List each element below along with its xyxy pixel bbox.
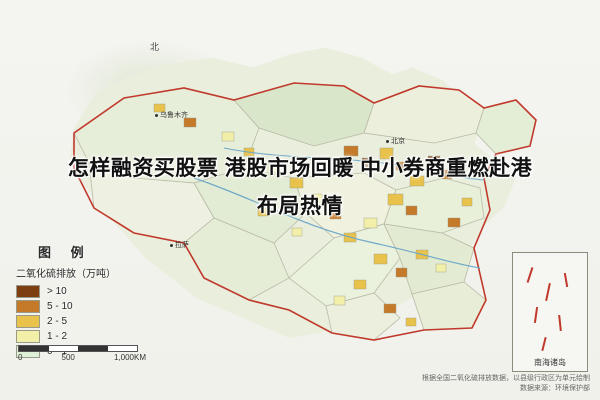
headline-overlay: 怎样融资买股票 港股市场回暖 中小券商重燃赴港 布局热情 <box>0 150 600 226</box>
legend-swatch-2 <box>16 300 40 313</box>
legend-swatch-3 <box>16 315 40 328</box>
legend-item: 5 - 10 <box>16 299 166 313</box>
legend-subtitle: 二氧化硫排放（万吨） <box>16 265 166 280</box>
inset-label: 南海诸岛 <box>513 357 587 368</box>
city-label-text: 乌鲁木齐 <box>160 112 188 119</box>
map-legend: 图 例 二氧化硫排放（万吨） > 10 5 - 10 2 - 5 1 - 2 0… <box>16 242 166 359</box>
city-label-2: 拉萨 <box>170 240 189 250</box>
legend-item: 1 - 2 <box>16 329 166 343</box>
legend-label-3: 2 - 5 <box>47 316 67 327</box>
city-label-text: 拉萨 <box>175 242 189 249</box>
headline-line-2: 布局热情 <box>0 188 600 226</box>
legend-item: > 10 <box>16 284 166 298</box>
scale-tick-labels: 0 500 1,000KM <box>18 353 146 362</box>
headline-line-1: 怎样融资买股票 港股市场回暖 中小券商重燃赴港 <box>0 150 600 188</box>
city-label-text: 北京 <box>391 138 405 145</box>
footnote-line-1: 根据全国二氧化硫排放数据，以县级行政区为单元绘制 <box>380 374 590 384</box>
map-footnote: 根据全国二氧化硫排放数据，以县级行政区为单元绘制 数据来源：环境保护部 <box>380 374 590 394</box>
scale-tick-1: 500 <box>62 353 75 362</box>
scale-tick-0: 0 <box>18 353 22 362</box>
south-sea-inset: 南海诸岛 <box>512 252 588 372</box>
scale-bar: 0 500 1,000KM <box>18 345 158 362</box>
legend-label-2: 5 - 10 <box>47 301 73 312</box>
map-screenshot: 北 乌鲁木齐 拉萨 北京 怎样融资买股票 港股市场回暖 中小券商重燃赴港 布局热… <box>0 0 600 400</box>
scale-tick-2: 1,000KM <box>114 353 146 362</box>
compass-label: 北 <box>150 40 159 53</box>
legend-label-4: 1 - 2 <box>47 331 67 342</box>
city-label-3: 北京 <box>386 136 405 146</box>
legend-swatch-1 <box>16 285 40 298</box>
legend-item: 2 - 5 <box>16 314 166 328</box>
legend-heading: 图 例 <box>38 242 166 261</box>
legend-label-1: > 10 <box>47 286 67 297</box>
scale-bar-graphic <box>18 345 138 352</box>
footnote-line-2: 数据来源：环境保护部 <box>380 384 590 394</box>
legend-swatch-4 <box>16 330 40 343</box>
city-label-1: 乌鲁木齐 <box>155 110 188 120</box>
